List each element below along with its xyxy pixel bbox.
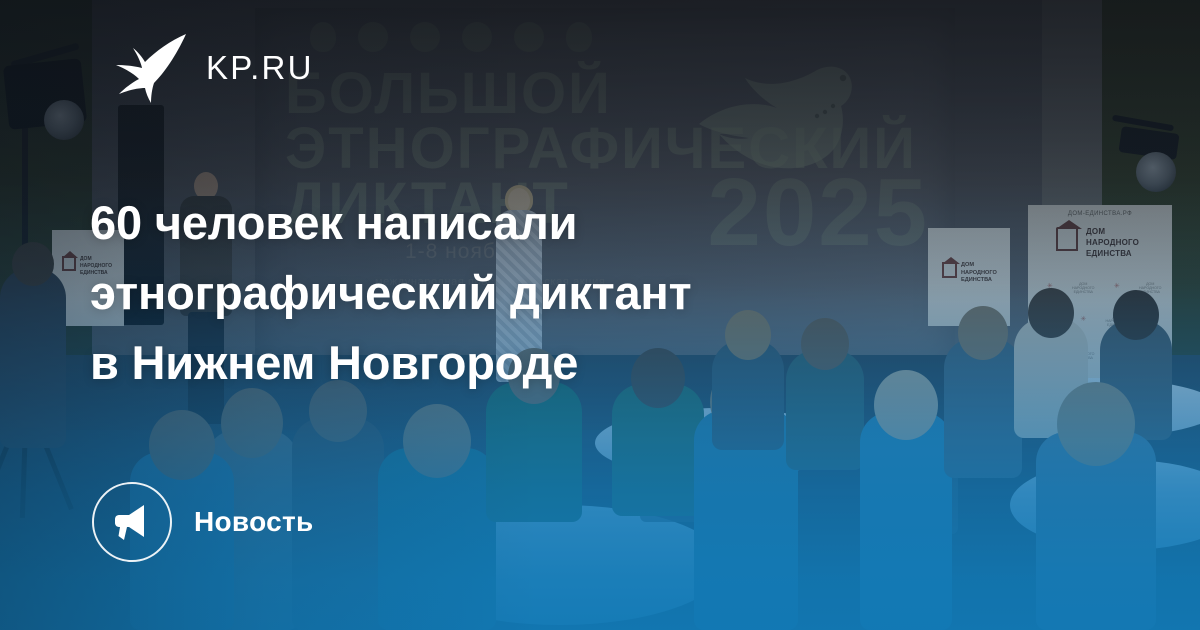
badge-label: Новость bbox=[194, 506, 314, 538]
headline-line-3: в Нижнем Новгороде bbox=[90, 328, 890, 398]
badge-icon-circle bbox=[92, 482, 172, 562]
brand-lockup[interactable]: KP.RU bbox=[104, 32, 314, 104]
megaphone-icon bbox=[111, 501, 153, 543]
news-share-card: БОЛЬШОЙ ЭТНОГРАФИЧЕСКИЙ ДИКТАНТ 1-8 нояб… bbox=[0, 0, 1200, 630]
page-title: 60 человек написали этнографический дикт… bbox=[90, 188, 890, 398]
headline-line-1: 60 человек написали bbox=[90, 188, 890, 258]
swallow-bird-icon bbox=[104, 32, 188, 104]
status-badge[interactable]: Новость bbox=[92, 482, 314, 562]
brand-name: KP.RU bbox=[206, 49, 314, 87]
card-content: KP.RU 60 человек написали этнографически… bbox=[0, 0, 1200, 630]
headline-line-2: этнографический диктант bbox=[90, 258, 890, 328]
